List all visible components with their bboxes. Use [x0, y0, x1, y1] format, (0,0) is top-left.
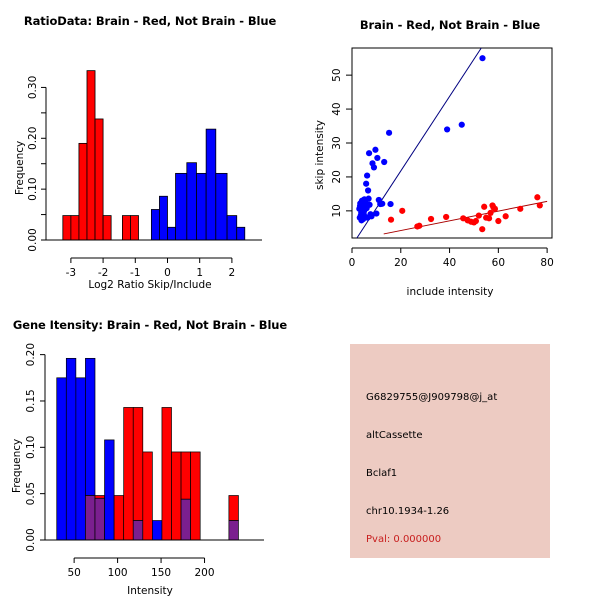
gene-intensity-ylabel: Frequency	[11, 439, 23, 493]
gene-annotation-probe_id: G6829755@J909798@j_at	[366, 392, 497, 403]
scatter-point-brain-14	[486, 215, 492, 221]
ratio-histogram-title: RatioData: Brain - Red, Not Brain - Blue	[0, 14, 300, 28]
scatter-x-tick-label: 20	[394, 257, 407, 269]
gene-intensity-xlabel: Intensity	[0, 585, 300, 597]
gene-bar-8-upper	[133, 407, 143, 520]
gene-bar-1-upper	[66, 358, 76, 540]
ratio-bar-not-brain-3	[176, 173, 187, 240]
scatter-point-not-brain-39	[361, 196, 367, 202]
scatter-point-not-brain-26	[374, 155, 380, 161]
scatter-point-not-brain-31	[368, 213, 374, 219]
scatter-x-tick-label: 60	[492, 257, 505, 269]
scatter-fit-line-not-brain-fit	[357, 48, 481, 238]
gene-annotation-background	[350, 344, 550, 558]
gene-x-tick-label: 150	[151, 567, 171, 579]
gene-y-tick-label: 0.20	[25, 343, 37, 366]
intensity-scatter-xlabel: include intensity	[300, 286, 600, 298]
intensity-scatter-title: Brain - Red, Not Brain - Blue	[300, 18, 600, 32]
scatter-point-brain-21	[534, 194, 540, 200]
gene-annotation-locus: chr10.1934-1.26	[366, 506, 449, 517]
scatter-x-tick-label: 80	[540, 257, 553, 269]
ratio-bar-brain-4	[95, 119, 103, 240]
ratio-histogram-ylabel: Frequency	[14, 141, 26, 195]
scatter-point-brain-5	[443, 214, 449, 220]
scatter-point-brain-19	[503, 213, 509, 219]
gene-x-tick-label: 100	[108, 567, 128, 579]
gene-x-tick-label: 200	[195, 567, 215, 579]
ratio-bar-brain-1	[71, 216, 79, 240]
scatter-y-tick-label: 50	[331, 68, 343, 81]
gene-bar-12-upper	[171, 452, 181, 540]
ratio-x-tick-label: 0	[164, 267, 171, 279]
gene-y-tick-label: 0.15	[25, 389, 37, 412]
scatter-point-brain-20	[517, 206, 523, 212]
scatter-y-tick-label: 40	[331, 102, 343, 115]
gene-bar-2-upper	[76, 378, 86, 540]
scatter-point-not-brain-35	[444, 126, 450, 132]
scatter-point-brain-23	[473, 218, 479, 224]
intensity-scatter-ylabel: skip intensity	[314, 120, 326, 190]
gene-annotation-event_type: altCassette	[366, 430, 423, 441]
scatter-y-tick-label: 30	[331, 136, 343, 149]
ratio-y-tick-label: 0.30	[27, 76, 39, 99]
ratio-bar-brain-5	[103, 216, 111, 240]
intensity-scatter-panel: Brain - Red, Not Brain - Blue skip inten…	[300, 0, 600, 300]
intensity-scatter-plot: 1020304050020406080	[300, 0, 600, 300]
gene-bar-3-overlap	[85, 496, 95, 540]
gene-bar-9-upper	[143, 452, 153, 540]
ratio-y-tick-label: 0.20	[27, 127, 39, 150]
scatter-x-tick-label: 0	[349, 257, 356, 269]
gene-y-tick-label: 0.10	[25, 436, 37, 459]
ratio-bar-not-brain-7	[216, 173, 227, 240]
ratio-bar-brain-2	[79, 143, 87, 240]
gene-histogram-bars	[57, 358, 239, 540]
ratio-bar-brain-3	[87, 71, 95, 240]
scatter-point-not-brain-36	[459, 122, 465, 128]
ratio-bar-brain-7	[130, 216, 138, 240]
ratio-x-tick-label: 2	[229, 267, 236, 279]
scatter-point-not-brain-37	[479, 55, 485, 61]
scatter-point-not-brain-22	[366, 150, 372, 156]
ratio-bar-brain-0	[63, 216, 71, 240]
gene-bar-4-overlap	[95, 498, 105, 540]
scatter-point-not-brain-25	[372, 147, 378, 153]
gene-bar-11-upper	[162, 407, 172, 540]
ratio-histogram-bars	[63, 71, 245, 240]
gene-bar-0-upper	[57, 378, 67, 540]
ratio-y-tick-label: 0.00	[27, 228, 39, 251]
scatter-x-tick-label: 40	[443, 257, 456, 269]
gene-bar-15-overlap	[229, 521, 239, 540]
gene-bar-14-upper	[191, 452, 201, 540]
ratio-x-tick-label: -1	[130, 267, 140, 279]
scatter-point-brain-3	[416, 223, 422, 229]
ratio-histogram-panel: RatioData: Brain - Red, Not Brain - Blue…	[0, 0, 300, 300]
scatter-point-brain-12	[481, 204, 487, 210]
figure-canvas: RatioData: Brain - Red, Not Brain - Blue…	[0, 0, 600, 600]
ratio-x-tick-label: -3	[66, 267, 76, 279]
scatter-point-brain-0	[388, 217, 394, 223]
ratio-bar-not-brain-6	[206, 129, 216, 240]
scatter-point-not-brain-34	[387, 201, 393, 207]
gene-x-tick-label: 50	[67, 567, 80, 579]
ratio-histogram-xlabel: Log2 Ratio Skip/Include	[0, 279, 300, 291]
gene-bar-4-upper	[95, 496, 105, 499]
gene-y-tick-label: 0.05	[25, 482, 37, 505]
scatter-point-brain-4	[428, 216, 434, 222]
scatter-y-tick-label: 10	[331, 204, 343, 217]
scatter-point-brain-18	[495, 218, 501, 224]
gene-bar-13-upper	[181, 452, 191, 499]
gene-bar-3-upper	[85, 358, 95, 495]
scatter-point-not-brain-41	[358, 217, 364, 223]
ratio-bar-not-brain-8	[227, 216, 237, 240]
scatter-point-brain-10	[476, 213, 482, 219]
ratio-bar-not-brain-4	[187, 163, 197, 240]
gene-bar-8-overlap	[133, 521, 143, 540]
scatter-point-not-brain-32	[381, 159, 387, 165]
gene-bar-13-overlap	[181, 499, 191, 540]
scatter-point-not-brain-40	[365, 187, 371, 193]
ratio-bar-brain-6	[122, 216, 130, 240]
gene-bar-15-upper	[229, 496, 239, 521]
gene-annotation-panel: G6829755@J909798@j_ataltCassetteBclaf1ch…	[300, 300, 600, 600]
scatter-y-tick-label: 20	[331, 170, 343, 183]
ratio-bar-not-brain-1	[159, 196, 167, 240]
scatter-point-brain-11	[479, 226, 485, 232]
ratio-bar-not-brain-2	[167, 227, 175, 240]
scatter-point-not-brain-29	[379, 201, 385, 207]
gene-bar-5-upper	[105, 440, 115, 540]
gene-annotation-pvalue: Pval: 0.000000	[366, 534, 441, 545]
scatter-point-not-brain-21	[364, 172, 370, 178]
ratio-bar-not-brain-0	[151, 209, 159, 240]
scatter-point-not-brain-20	[363, 181, 369, 187]
gene-intensity-title: Gene Itensity: Brain - Red, Not Brain - …	[0, 318, 300, 332]
gene-bar-7-upper	[124, 407, 134, 540]
gene-intensity-panel: Gene Itensity: Brain - Red, Not Brain - …	[0, 300, 300, 600]
gene-y-tick-label: 0.00	[25, 528, 37, 551]
ratio-bar-not-brain-5	[196, 173, 206, 240]
scatter-point-not-brain-24	[371, 164, 377, 170]
ratio-y-tick-label: 0.10	[27, 177, 39, 200]
gene-bar-10-upper	[152, 521, 162, 540]
scatter-point-not-brain-18	[366, 202, 372, 208]
scatter-point-brain-24	[487, 210, 493, 216]
ratio-bar-not-brain-9	[237, 227, 245, 240]
scatter-point-not-brain-33	[386, 130, 392, 136]
ratio-x-tick-label: -2	[98, 267, 108, 279]
scatter-point-brain-1	[399, 208, 405, 214]
scatter-content	[356, 48, 547, 238]
gene-bar-6-upper	[114, 496, 124, 540]
ratio-x-tick-label: 1	[196, 267, 203, 279]
scatter-point-brain-22	[537, 202, 543, 208]
ratio-histogram-plot: 0.000.100.200.30-3-2-1012	[0, 0, 300, 300]
gene-annotation-gene_symbol: Bclaf1	[366, 468, 397, 479]
gene-intensity-plot: 0.000.050.100.150.2050100150200	[0, 300, 300, 600]
